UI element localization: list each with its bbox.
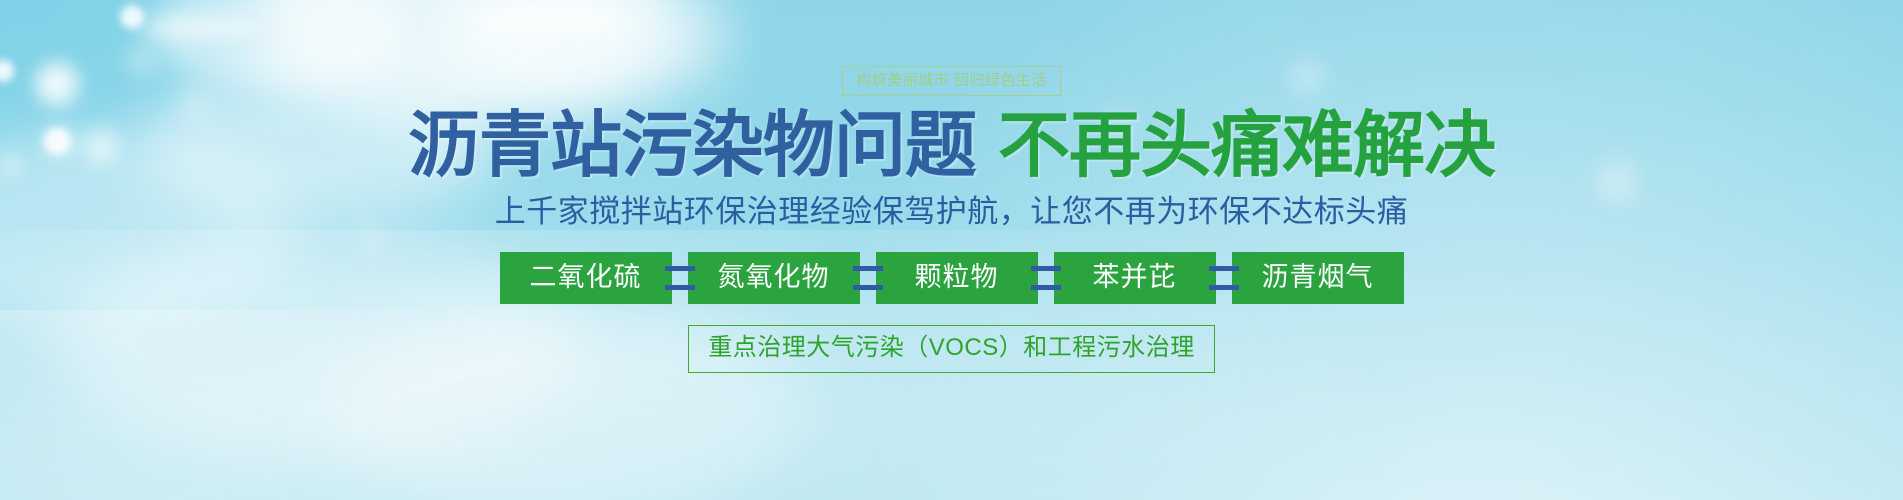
tag-connector-icon	[672, 252, 688, 304]
page-title: 沥青站污染物问题不再头痛难解决	[408, 108, 1495, 184]
pollutant-tag-strip: 二氧化硫 氮氧化物 颗粒物 苯并芘 沥青烟气	[500, 252, 1404, 304]
tag-item[interactable]: 沥青烟气	[1232, 252, 1404, 304]
tag-connector-icon	[1038, 252, 1054, 304]
tag-item[interactable]: 氮氧化物	[688, 252, 860, 304]
tag-connector-icon	[860, 252, 876, 304]
service-scope-note: 重点治理大气污染（VOCS）和工程污水治理	[688, 325, 1215, 373]
hero-banner: 构筑美丽城市 回归绿色生活 沥青站污染物问题不再头痛难解决 上千家搅拌站环保治理…	[0, 0, 1903, 500]
tagline-badge: 构筑美丽城市 回归绿色生活	[842, 66, 1061, 96]
headline-green-text: 不再头痛难解决	[998, 103, 1495, 187]
tag-connector-icon	[1216, 252, 1232, 304]
tag-item[interactable]: 颗粒物	[876, 252, 1038, 304]
tag-item[interactable]: 二氧化硫	[500, 252, 672, 304]
tag-item[interactable]: 苯并芘	[1054, 252, 1216, 304]
banner-content: 构筑美丽城市 回归绿色生活 沥青站污染物问题不再头痛难解决 上千家搅拌站环保治理…	[0, 0, 1903, 500]
page-subtitle: 上千家搅拌站环保治理经验保驾护航，让您不再为环保不达标头痛	[495, 195, 1409, 229]
headline-blue-text: 沥青站污染物问题	[408, 103, 976, 187]
